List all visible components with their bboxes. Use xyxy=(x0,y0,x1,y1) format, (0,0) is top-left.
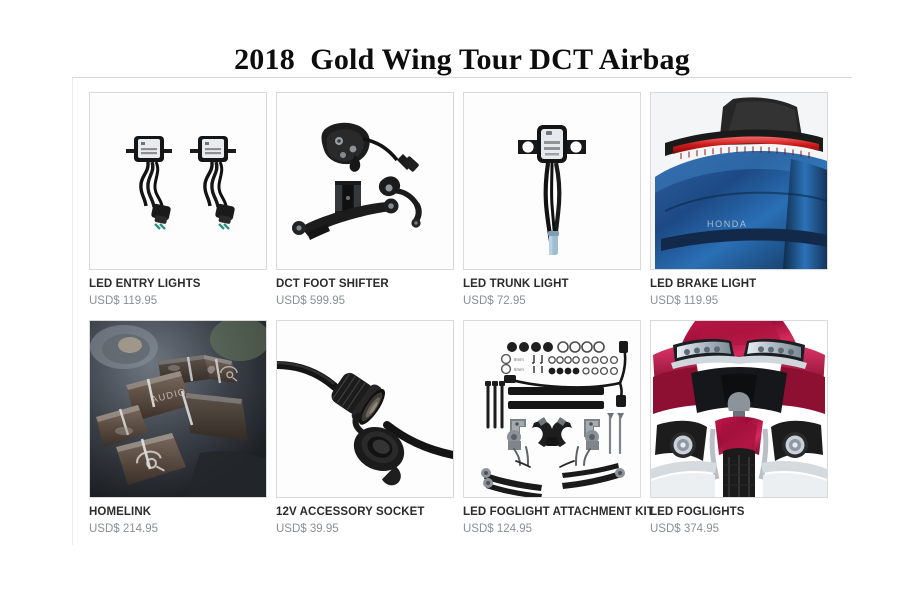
page-title: 2018 Gold Wing Tour DCT Airbag xyxy=(72,44,852,76)
product-price: USD$ 124.95 xyxy=(463,522,641,536)
product-name: DCT FOOT SHIFTER xyxy=(276,277,454,291)
product-price: USD$ 39.95 xyxy=(276,522,454,536)
product-name: LED FOGLIGHTS xyxy=(650,505,828,519)
product-price: USD$ 374.95 xyxy=(650,522,828,536)
product-price: USD$ 119.95 xyxy=(89,294,267,308)
product-name: 12V ACCESSORY SOCKET xyxy=(276,505,454,519)
product-price: USD$ 119.95 xyxy=(650,294,828,308)
product-card-led-foglights[interactable]: LED FOGLIGHTS USD$ 374.95 xyxy=(650,320,828,536)
product-price: USD$ 599.95 xyxy=(276,294,454,308)
led-trunk-light-image xyxy=(464,93,640,269)
product-listing-page: 2018 Gold Wing Tour DCT Airbag xyxy=(0,0,904,616)
product-card-homelink[interactable]: AUDIO xyxy=(89,320,267,536)
product-price: USD$ 214.95 xyxy=(89,522,267,536)
product-card-led-trunk-light[interactable]: LED TRUNK LIGHT USD$ 72.95 xyxy=(463,92,641,308)
svg-text:8mm: 8mm xyxy=(514,357,524,362)
product-card-12v-accessory-socket[interactable]: 12V ACCESSORY SOCKET USD$ 39.95 xyxy=(276,320,454,536)
accessory-socket-image xyxy=(277,321,453,497)
product-thumbnail[interactable]: AUDIO xyxy=(89,320,267,498)
product-card-dct-foot-shifter[interactable]: DCT FOOT SHIFTER USD$ 599.95 xyxy=(276,92,454,308)
title-divider xyxy=(72,77,852,78)
led-entry-lights-image xyxy=(90,93,266,269)
product-thumbnail[interactable]: HONDA xyxy=(650,92,828,270)
dct-foot-shifter-image xyxy=(277,93,453,269)
product-price: USD$ 72.95 xyxy=(463,294,641,308)
led-brake-light-image: HONDA xyxy=(651,93,827,269)
product-name: LED TRUNK LIGHT xyxy=(463,277,641,291)
product-thumbnail[interactable] xyxy=(276,92,454,270)
product-thumbnail[interactable] xyxy=(276,320,454,498)
product-grid: LED ENTRY LIGHTS USD$ 119.95 xyxy=(89,92,831,536)
honda-badge: HONDA xyxy=(707,219,748,229)
homelink-controls-image: AUDIO xyxy=(90,321,266,497)
product-card-led-foglight-attachment-kit[interactable]: 8mm6mm xyxy=(463,320,641,536)
product-name: LED FOGLIGHT ATTACHMENT KIT xyxy=(463,505,641,519)
product-thumbnail[interactable] xyxy=(650,320,828,498)
content-column-rule-left xyxy=(72,77,73,545)
product-thumbnail[interactable]: 8mm6mm xyxy=(463,320,641,498)
product-card-led-brake-light[interactable]: HONDA LED BRAKE LIGHT USD$ 119.95 xyxy=(650,92,828,308)
foglight-attachment-kit-image: 8mm6mm xyxy=(464,321,640,497)
product-name: HOMELINK xyxy=(89,505,267,519)
svg-text:6mm: 6mm xyxy=(514,367,524,372)
product-name: LED BRAKE LIGHT xyxy=(650,277,828,291)
product-card-led-entry-lights[interactable]: LED ENTRY LIGHTS USD$ 119.95 xyxy=(89,92,267,308)
led-foglights-image xyxy=(651,321,827,497)
product-thumbnail[interactable] xyxy=(463,92,641,270)
product-name: LED ENTRY LIGHTS xyxy=(89,277,267,291)
product-thumbnail[interactable] xyxy=(89,92,267,270)
